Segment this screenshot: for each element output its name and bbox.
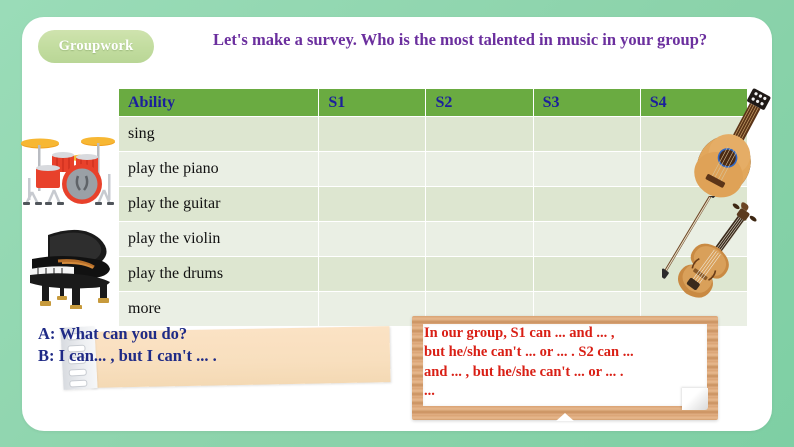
- column-header-s1: S1: [319, 89, 426, 117]
- column-header-ability: Ability: [119, 89, 319, 117]
- cell-ability: play the piano: [119, 152, 319, 187]
- groupwork-badge: Groupwork: [38, 30, 154, 63]
- survey-table-body: sing play the piano play the guitar: [119, 117, 748, 327]
- cell-s1[interactable]: [319, 152, 426, 187]
- cell-s3[interactable]: [533, 117, 640, 152]
- cell-s3[interactable]: [533, 187, 640, 222]
- survey-table-head: Ability S1 S2 S3 S4: [119, 89, 748, 117]
- table-header-row: Ability S1 S2 S3 S4: [119, 89, 748, 117]
- report-line-2: but he/she can't ... or ... . S2 can ...: [424, 343, 706, 362]
- report-line-1: In our group, S1 can ... and ... ,: [424, 324, 706, 343]
- cell-s1[interactable]: [319, 257, 426, 292]
- column-header-s3: S3: [533, 89, 640, 117]
- table-row: sing: [119, 117, 748, 152]
- table-row: play the violin: [119, 222, 748, 257]
- cell-s2[interactable]: [426, 187, 533, 222]
- cell-s2[interactable]: [426, 257, 533, 292]
- page-title: Let's make a survey. Who is the most tal…: [213, 28, 713, 51]
- report-line-3: and ... , but he/she can't ... or ... .: [424, 363, 706, 382]
- dialogue-note-text: A: What can you do? B: I can... , but I …: [38, 323, 338, 368]
- cell-s2[interactable]: [426, 222, 533, 257]
- cell-ability: more: [119, 292, 319, 327]
- cell-s3[interactable]: [533, 152, 640, 187]
- dialogue-line-b: B: I can... , but I can't ... .: [38, 345, 338, 367]
- grand-piano-image: [18, 213, 122, 309]
- cell-s3[interactable]: [533, 257, 640, 292]
- violin-image: [662, 196, 774, 304]
- cell-s1[interactable]: [319, 117, 426, 152]
- cell-s2[interactable]: [426, 117, 533, 152]
- table-row: play the drums: [119, 257, 748, 292]
- cell-ability: play the drums: [119, 257, 319, 292]
- dialogue-line-a: A: What can you do?: [38, 323, 338, 345]
- report-note-text: In our group, S1 can ... and ... , but h…: [424, 324, 706, 402]
- cell-s3[interactable]: [533, 222, 640, 257]
- report-line-4: ...: [424, 382, 706, 401]
- table-row: play the piano: [119, 152, 748, 187]
- groupwork-badge-label: Groupwork: [59, 38, 134, 55]
- guitar-image: [688, 84, 784, 200]
- table-row: play the guitar: [119, 187, 748, 222]
- survey-table: Ability S1 S2 S3 S4 sing play the piano: [118, 88, 748, 327]
- cell-ability: play the violin: [119, 222, 319, 257]
- drum-kit-image: [16, 112, 120, 210]
- cell-s2[interactable]: [426, 152, 533, 187]
- cell-s1[interactable]: [319, 292, 426, 327]
- slide-canvas: Groupwork Let's make a survey. Who is th…: [0, 0, 794, 447]
- cell-s1[interactable]: [319, 222, 426, 257]
- cell-ability: play the guitar: [119, 187, 319, 222]
- survey-table-wrapper: Ability S1 S2 S3 S4 sing play the piano: [118, 88, 748, 327]
- frame-notch-icon: [556, 413, 574, 421]
- column-header-s2: S2: [426, 89, 533, 117]
- cell-ability: sing: [119, 117, 319, 152]
- cell-s1[interactable]: [319, 187, 426, 222]
